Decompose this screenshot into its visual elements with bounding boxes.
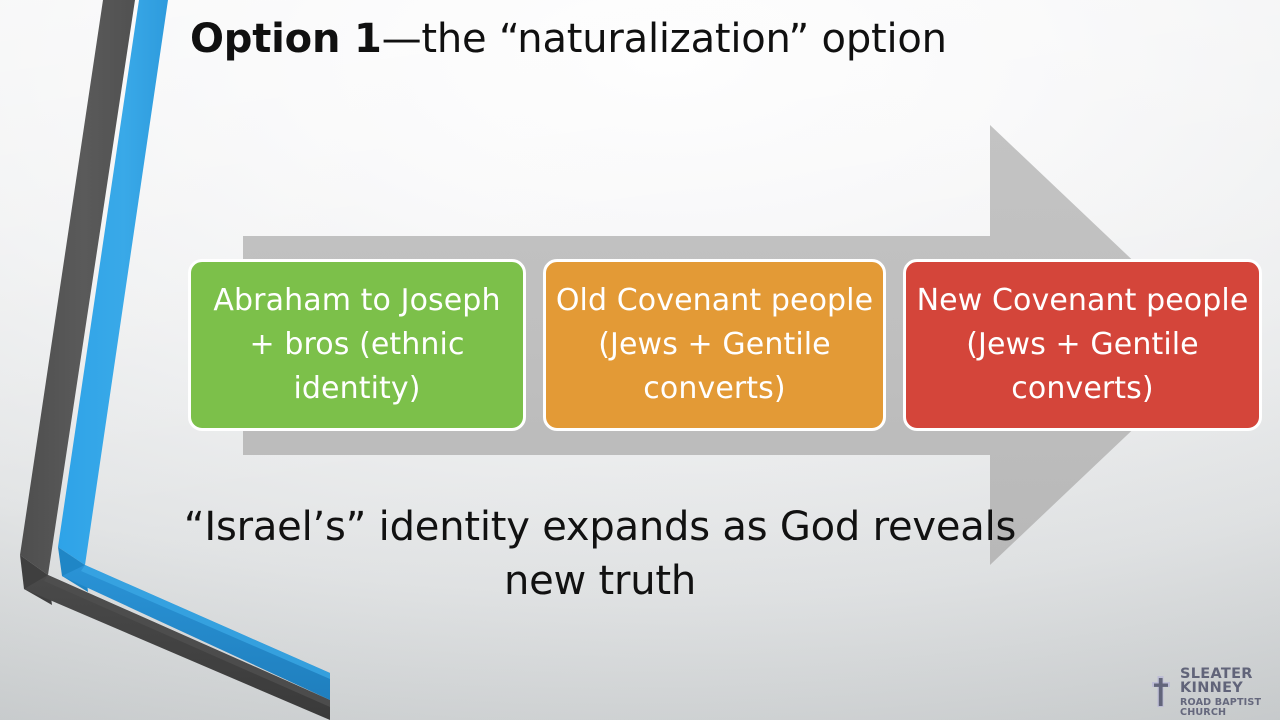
slide-caption: “Israel’s” identity expands as God revea… (150, 500, 1050, 609)
church-logo-text: SLEATER KINNEY ROAD BAPTIST CHURCH (1180, 667, 1272, 717)
slide-title: Option 1—the “naturalization” option (190, 16, 1190, 63)
church-name-line2: ROAD BAPTIST CHURCH (1180, 698, 1272, 717)
slide-title-bold: Option 1 (190, 16, 382, 62)
process-box-old-covenant[interactable]: Old Covenant people (Jews + Gentile conv… (543, 259, 886, 431)
process-box-new-covenant[interactable]: New Covenant people (Jews + Gentile conv… (903, 259, 1262, 431)
process-box-abraham[interactable]: Abraham to Joseph + bros (ethnic identit… (188, 259, 526, 431)
cross-icon (1148, 675, 1174, 709)
church-logo: SLEATER KINNEY ROAD BAPTIST CHURCH (1148, 672, 1272, 712)
slide-title-rest: —the “naturalization” option (382, 16, 947, 62)
process-box-group: Abraham to Joseph + bros (ethnic identit… (0, 259, 1280, 431)
church-name-line1: SLEATER KINNEY (1180, 667, 1272, 696)
slide-canvas: Option 1—the “naturalization” option Abr… (0, 0, 1280, 720)
